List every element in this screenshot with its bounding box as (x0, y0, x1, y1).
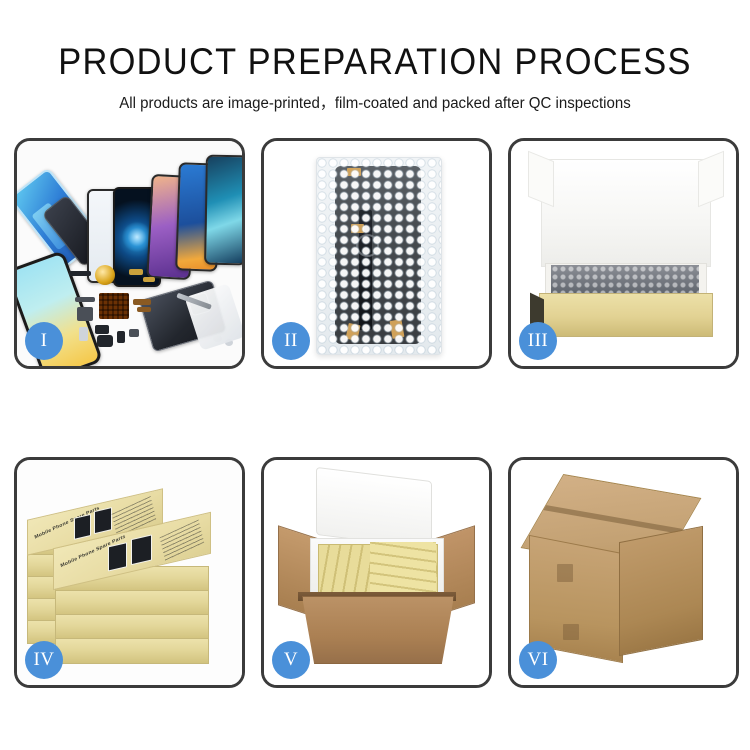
bubble-texture (317, 158, 441, 354)
box-lid-open (541, 159, 711, 267)
carton-tab-upper (557, 564, 573, 582)
part-camera (97, 335, 113, 347)
carton-tab-lower (563, 624, 579, 640)
product-preparation-process-graphic: PRODUCT PREPARATION PROCESS All products… (0, 0, 750, 750)
part-strip-1 (69, 271, 91, 276)
step-panel-4: Mobile Phone Spare Parts Mobile Phone Sp… (14, 457, 245, 688)
part-flex-3 (133, 299, 151, 305)
part-small-3 (117, 331, 125, 343)
carton-body-open (302, 596, 454, 664)
step-panel-6: VI (508, 457, 739, 688)
page-subtitle: All products are image-printed，film-coat… (11, 94, 739, 114)
part-strip-2 (129, 269, 143, 275)
step-panel-2: II (261, 138, 492, 369)
yellow-boxes-row-2 (370, 542, 436, 592)
step-badge-2: II (272, 322, 310, 360)
box-artwork-back-2 (94, 507, 112, 534)
part-small-2 (95, 325, 109, 334)
phone-teal-gradient (204, 155, 242, 266)
step-badge-5: V (272, 641, 310, 679)
box-base-yellow (539, 293, 713, 337)
part-small-1 (79, 327, 88, 341)
part-flex-1 (75, 297, 95, 302)
box-artwork-front-2 (131, 534, 152, 565)
part-flex-2 (77, 307, 93, 321)
logic-board-part (99, 293, 129, 319)
foam-lid-open (316, 467, 432, 549)
process-steps-grid: I II (14, 138, 736, 688)
step-panel-5: V (261, 457, 492, 688)
bubble-wrap-contents (551, 265, 699, 295)
box-artwork-front-1 (108, 542, 127, 571)
part-strip-3 (143, 277, 155, 282)
part-flex-4 (137, 307, 151, 312)
stacked-box-f4 (55, 638, 209, 664)
page-title: PRODUCT PREPARATION PROCESS (26, 40, 724, 84)
step-badge-1: I (25, 322, 63, 360)
step-badge-3: III (519, 322, 557, 360)
speaker-coil-part (95, 265, 115, 285)
step-badge-4: IV (25, 641, 63, 679)
bubble-wrap-bag (316, 157, 442, 355)
header: PRODUCT PREPARATION PROCESS All products… (0, 0, 750, 114)
part-small-4 (129, 329, 139, 337)
stacked-box-f2 (55, 590, 209, 616)
box-artwork-back-1 (74, 514, 91, 540)
step-panel-1: I (14, 138, 245, 369)
box-spec-lines-front (160, 519, 205, 561)
carton-side-face (619, 526, 703, 656)
stacked-box-f3 (55, 614, 209, 640)
step-panel-3: III (508, 138, 739, 369)
step-badge-6: VI (519, 641, 557, 679)
